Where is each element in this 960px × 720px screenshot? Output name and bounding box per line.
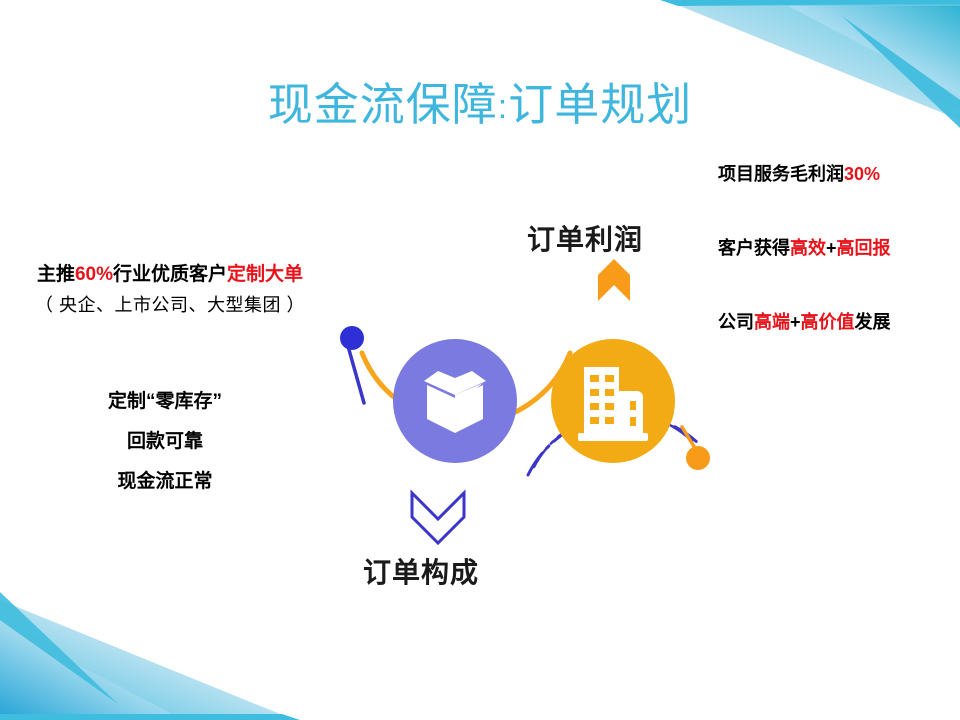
right-line-accent2: 高回报 [837,238,891,258]
left-bullet-list: 定制“零库存” 回款可靠 现金流正常 [20,382,310,502]
left-lead-line: 主推60%行业优质客户定制大单 [0,262,340,288]
decoration-bottom-left [0,550,300,720]
process-diagram [320,205,720,605]
left-bullet-item: 回款可靠 [20,422,310,462]
right-line-part1: 项目服务毛利润 [718,164,844,184]
dot-right [686,446,710,470]
right-line-part3: + [790,312,801,332]
slide-canvas: 现金流保障:订单规划 主推60%行业优质客户定制大单 （ 央企、上市公司、大型集… [0,0,960,720]
right-line-part5: 发展 [855,312,891,332]
chevron-down-icon [412,493,464,543]
left-lead-part1: 主推 [37,264,75,285]
right-line-accent1: 高效 [790,238,826,258]
left-lead-part3: 行业优质客户 [113,264,227,285]
left-bullet-item: 现金流正常 [20,462,310,502]
left-lead-subtitle: （ 央企、上市公司、大型集团 ） [0,288,340,322]
left-bullet-item: 定制“零库存” [20,382,310,422]
right-line-part1: 公司 [718,312,754,332]
page-title-separator: : [498,88,508,126]
caption-order-profit: 订单利润 [527,218,643,258]
page-title: 现金流保障:订单规划 [0,68,960,133]
dot-left [340,326,364,350]
right-line-part3: + [826,238,837,258]
right-line-accent1: 30% [844,164,880,184]
page-title-tail: 订单规划 [508,79,692,130]
chevron-up-icon [598,259,630,301]
left-lead-percent: 60% [75,264,113,285]
right-text-line: 项目服务毛利润30% [718,160,954,186]
right-text-line: 客户获得高效+高回报 [718,234,954,260]
right-line-part1: 客户获得 [718,238,790,258]
right-text-line: 公司高端+高价值发展 [718,308,954,334]
right-line-accent2: 高价值 [801,312,855,332]
page-title-main: 现金流保障 [268,79,498,130]
right-text-block: 项目服务毛利润30% 客户获得高效+高回报 公司高端+高价值发展 [718,160,954,382]
left-lead-highlight: 定制大单 [227,264,303,285]
left-text-block: 主推60%行业优质客户定制大单 （ 央企、上市公司、大型集团 ） [0,262,340,322]
caption-order-composition: 订单构成 [363,551,479,591]
right-line-accent1: 高端 [754,312,790,332]
